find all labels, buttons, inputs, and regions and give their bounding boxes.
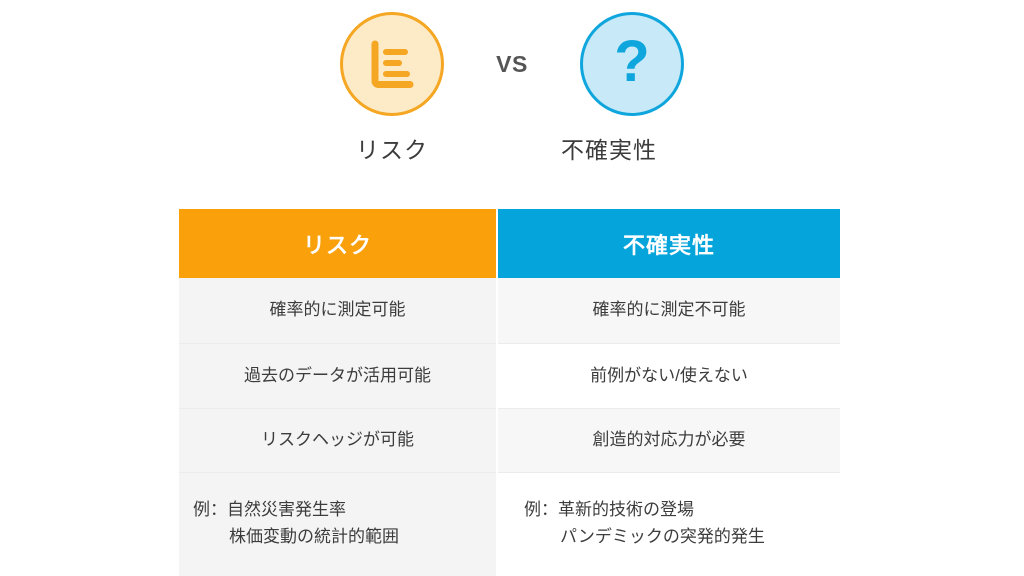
table-row: 過去のデータが活用可能 前例がない/使えない: [179, 343, 840, 408]
hero-caption-row: リスク 不確実性: [340, 128, 684, 168]
uncertainty-example-line-1: 例：革新的技術の登場: [524, 497, 830, 523]
table-cell-uncertainty: 確率的に測定不可能: [498, 278, 840, 343]
table-cell-uncertainty: 前例がない/使えない: [498, 343, 840, 408]
uncertainty-icon-circle: ?: [580, 12, 684, 116]
table-header-risk: リスク: [179, 209, 496, 278]
uncertainty-caption: 不確実性: [534, 131, 684, 165]
versus-label: VS: [496, 51, 528, 78]
risk-example-line-2: 株価変動の統計的範囲: [193, 524, 486, 550]
table-cell-risk: 確率的に測定可能: [179, 278, 496, 343]
table-row: 確率的に測定可能 確率的に測定不可能: [179, 278, 840, 343]
uncertainty-example-line-2: パンデミックの突発的発生: [524, 524, 830, 550]
table-header-row: リスク 不確実性: [179, 209, 840, 278]
table-bottom-strip-left: [179, 558, 496, 576]
bar-chart-icon: [366, 38, 418, 90]
question-mark-icon: ?: [614, 33, 649, 91]
risk-example-line-1: 例：自然災害発生率: [193, 497, 486, 523]
table-header-uncertainty: 不確実性: [498, 209, 840, 278]
table-cell-uncertainty: 創造的対応力が必要: [498, 408, 840, 472]
table-cell-risk-examples: 例：自然災害発生率 株価変動の統計的範囲: [179, 472, 496, 558]
table-cell-uncertainty-examples: 例：革新的技術の登場 パンデミックの突発的発生: [498, 472, 840, 558]
hero-icon-row: VS ?: [340, 8, 684, 120]
comparison-table: リスク 不確実性 確率的に測定可能 確率的に測定不可能 過去のデータが活用可能 …: [179, 209, 840, 576]
table-bottom-strip: [179, 558, 840, 576]
table-header: リスク 不確実性: [179, 209, 840, 278]
comparison-hero: VS ? リスク 不確実性: [0, 0, 1024, 190]
risk-icon-circle: [340, 12, 444, 116]
table-body: 確率的に測定可能 確率的に測定不可能 過去のデータが活用可能 前例がない/使えな…: [179, 278, 840, 558]
table-row-examples: 例：自然災害発生率 株価変動の統計的範囲 例：革新的技術の登場 パンデミックの突…: [179, 472, 840, 558]
risk-caption: リスク: [340, 131, 444, 165]
table-bottom-strip-right: [498, 558, 840, 576]
table-row: リスクヘッジが可能 創造的対応力が必要: [179, 408, 840, 472]
table-cell-risk: リスクヘッジが可能: [179, 408, 496, 472]
table-cell-risk: 過去のデータが活用可能: [179, 343, 496, 408]
